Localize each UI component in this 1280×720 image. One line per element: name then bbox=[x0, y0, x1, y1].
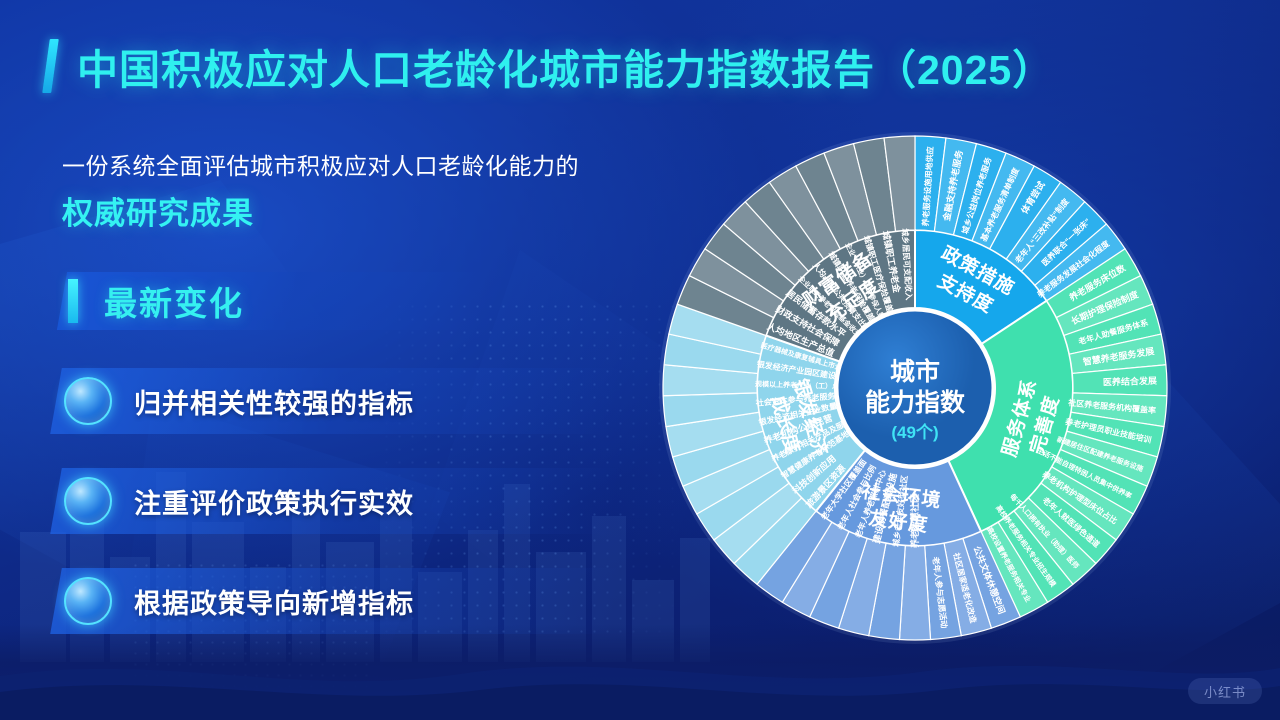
list-item-label: 注重评价政策执行实效 bbox=[134, 482, 414, 521]
svg-text:医养结合发展: 医养结合发展 bbox=[1103, 375, 1157, 388]
center-line-3: (49个) bbox=[891, 422, 938, 442]
bullet-sphere-icon bbox=[64, 377, 112, 425]
bullet-sphere-icon bbox=[64, 477, 112, 525]
list-item[interactable]: 归并相关性较强的指标 bbox=[50, 368, 622, 434]
section-heading: 最新变化 bbox=[57, 272, 487, 330]
list-item[interactable]: 根据政策导向新增指标 bbox=[50, 568, 622, 634]
bullet-sphere-icon bbox=[64, 577, 112, 625]
page-title: 中国积极应对人口老龄化城市能力指数报告（2025） bbox=[77, 36, 1054, 96]
header: 中国积极应对人口老龄化城市能力指数报告（2025） bbox=[46, 36, 1054, 96]
center-line-1: 城市 bbox=[890, 357, 940, 386]
section-accent-bar bbox=[68, 279, 78, 323]
list-item[interactable]: 注重评价政策执行实效 bbox=[50, 468, 622, 534]
sunburst-chart[interactable]: 养老服务设施用地供应金融支持养老服务城乡公益岗位养老服务基本养老服务清单制度体育… bbox=[655, 128, 1175, 648]
chart-center-hub[interactable] bbox=[837, 310, 993, 466]
bullet-list: 归并相关性较强的指标 注重评价政策执行实效 根据政策导向新增指标 bbox=[56, 368, 616, 668]
subtitle-line-1: 一份系统全面评估城市积极应对人口老龄化能力的 bbox=[62, 147, 579, 181]
list-item-label: 根据政策导向新增指标 bbox=[134, 582, 414, 621]
section-heading-label: 最新变化 bbox=[104, 277, 244, 325]
title-accent-bar bbox=[42, 39, 59, 93]
watermark: 小红书 bbox=[1188, 678, 1262, 704]
center-line-2: 能力指数 bbox=[865, 388, 966, 417]
subtitle-line-2: 权威研究成果 bbox=[62, 188, 254, 233]
slide-background: 中国积极应对人口老龄化城市能力指数报告（2025） 一份系统全面评估城市积极应对… bbox=[0, 0, 1280, 720]
sunburst-indicator-label: 医养结合发展 bbox=[1103, 375, 1157, 388]
list-item-label: 归并相关性较强的指标 bbox=[134, 382, 414, 421]
